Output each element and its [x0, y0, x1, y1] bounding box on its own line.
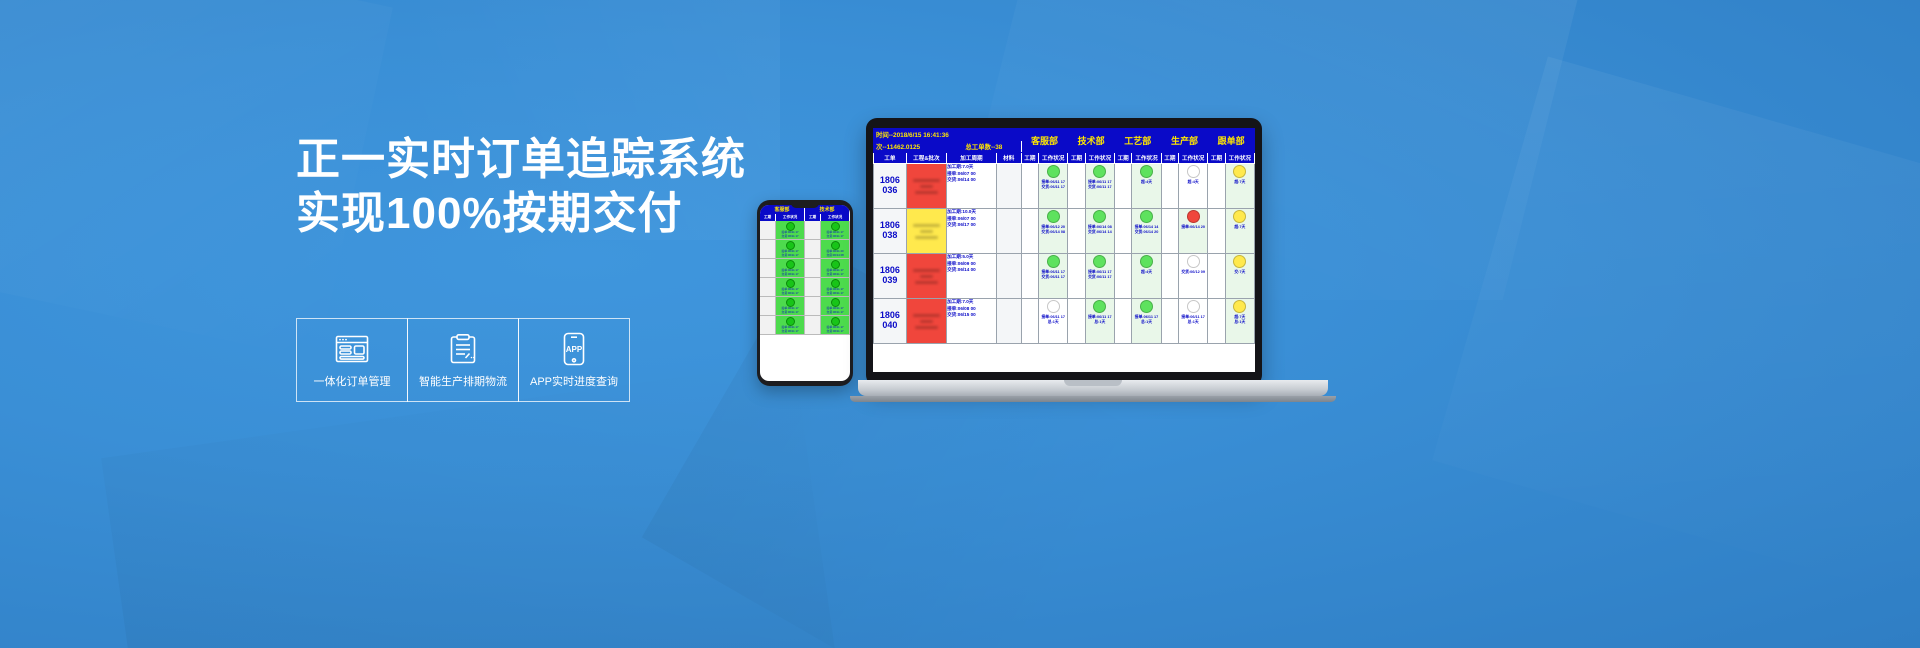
- dept-duration-cell-5[interactable]: [1208, 254, 1225, 299]
- project-batch-cell[interactable]: [906, 254, 946, 299]
- status-indicator-icon: [1093, 210, 1106, 223]
- status-indicator-icon: [1047, 255, 1060, 268]
- dept-header-1: 客服部: [1021, 129, 1068, 153]
- status-indicator-icon: [1047, 300, 1060, 313]
- dept-status-text: 交:7天: [1226, 270, 1254, 275]
- phone-screen: 客服部 技术部 工期 工作状况 工期 工作状况 接单:06/11 17交货:06…: [760, 205, 850, 381]
- system-time-label: 时间--2018/6/15 16:41:36: [874, 129, 997, 141]
- phone-subheader: 工期 工作状况 工期 工作状况: [760, 214, 850, 221]
- dept-status-text: 超:4天: [1132, 180, 1160, 185]
- phone-status-cell[interactable]: 接单:06/11 17交货:06/11 17: [821, 316, 850, 334]
- feature-production-scheduling[interactable]: 智能生产排期物流: [407, 318, 519, 402]
- column-header[interactable]: 工程&批次: [906, 153, 946, 164]
- phone-status-text: 交货:06/11 17: [782, 254, 799, 257]
- column-header[interactable]: 工期: [1161, 153, 1178, 164]
- cycle-line: 加工期:10.0天: [947, 209, 996, 216]
- phone-status-text: 交货:06/11 17: [827, 292, 844, 295]
- dept-status-cell-3[interactable]: 超:4天: [1132, 254, 1161, 299]
- total-orders-label: 总工单数--38: [947, 141, 1022, 153]
- dept-status-cell-5[interactable]: 超:7天总:1天: [1225, 299, 1254, 344]
- dept-status-text: 交货:06/11 17: [1086, 275, 1114, 280]
- total-orders-label: [996, 129, 1021, 141]
- dept-status-cell-1[interactable]: 接单:06/12 20交货:06/14 08: [1039, 209, 1068, 254]
- laptop-base: [858, 380, 1328, 396]
- dept-status-text: 超:4天: [1179, 180, 1207, 185]
- dept-status-cell-2[interactable]: 接单:06/11 17交货:06/11 17: [1085, 164, 1114, 209]
- status-indicator-icon: [1140, 210, 1153, 223]
- phone-status-text: 交货:06/11 17: [827, 235, 844, 238]
- phone-col: 工作状况: [821, 214, 850, 221]
- project-batch-cell[interactable]: [906, 299, 946, 344]
- phone-table-row[interactable]: 接单:06/11 17交货:06/11 17接单:06/11 20交货:06/1…: [760, 240, 850, 259]
- dept-status-cell-5[interactable]: 超:7天: [1225, 209, 1254, 254]
- dept-status-cell-5[interactable]: 交:7天: [1225, 254, 1254, 299]
- dept-duration-cell-2[interactable]: [1068, 164, 1085, 209]
- phone-table-row[interactable]: 接单:06/11 17交货:06/11 17接单:06/11 17交货:06/1…: [760, 221, 850, 240]
- dept-status-cell-2[interactable]: 接单:06/11 17总:1天: [1085, 299, 1114, 344]
- phone-duration-cell: [805, 278, 821, 296]
- status-indicator-icon: [1233, 165, 1246, 178]
- dept-status-text: 交货:06/11 17: [1039, 185, 1067, 190]
- phone-row-list: 接单:06/11 17交货:06/11 17接单:06/11 17交货:06/1…: [760, 221, 850, 335]
- phone-status-cell[interactable]: 接单:06/11 17交货:06/11 17: [821, 259, 850, 277]
- status-indicator-icon: [1233, 210, 1246, 223]
- phone-duration-cell: [760, 259, 776, 277]
- status-indicator-icon: [1047, 165, 1060, 178]
- phone-duration-cell: [805, 240, 821, 258]
- project-batch-cell[interactable]: [906, 164, 946, 209]
- dept-status-cell-3[interactable]: 接单:06/11 17总:1天: [1132, 299, 1161, 344]
- cycle-line: 加工期:7.0天: [947, 299, 996, 306]
- dept-status-cell-1[interactable]: 接单:06/11 17总:1天: [1039, 299, 1068, 344]
- laptop-mockup: 时间--2018/6/15 16:41:36客服部技术部工艺部生产部跟单部次--…: [858, 118, 1328, 418]
- status-indicator-icon: [1140, 165, 1153, 178]
- cycle-line: 加工期:7.0天: [947, 164, 996, 171]
- phone-duration-cell: [805, 259, 821, 277]
- dept-status-text: 交货:06/11 17: [1039, 275, 1067, 280]
- dept-status-text: 总:1天: [1132, 320, 1160, 325]
- column-header[interactable]: 加工周期: [947, 153, 997, 164]
- phone-duration-cell: [805, 221, 821, 239]
- status-indicator-icon: [1233, 300, 1246, 313]
- feature-order-management[interactable]: 一体化订单管理: [296, 318, 408, 402]
- redacted-text: [907, 164, 946, 208]
- headline-line-1: 正一实时订单追踪系统: [296, 133, 716, 187]
- dept-status-cell-4[interactable]: 接单:06/11 17总:1天: [1179, 299, 1208, 344]
- feature-label: 智能生产排期物流: [419, 373, 507, 389]
- laptop-base-notch: [1064, 380, 1122, 386]
- work-order-suffix: 039: [874, 276, 906, 286]
- status-indicator-icon: [1187, 300, 1200, 313]
- column-header[interactable]: 工单: [874, 153, 907, 164]
- dept-status-cell-1[interactable]: 接单:06/11 17交货:06/11 17: [1039, 254, 1068, 299]
- phone-status-cell[interactable]: 接单:06/11 17交货:06/11 17: [821, 221, 850, 239]
- work-order-suffix: 038: [874, 231, 906, 241]
- phone-status-text: 交货:06/11 17: [782, 330, 799, 333]
- laptop-screen: 时间--2018/6/15 16:41:36客服部技术部工艺部生产部跟单部次--…: [873, 128, 1255, 372]
- work-order-cell[interactable]: 1806038: [874, 209, 907, 254]
- status-indicator-icon: [1093, 165, 1106, 178]
- phone-col: 工作状况: [776, 214, 805, 221]
- column-header[interactable]: 工期: [1208, 153, 1225, 164]
- dept-status-text: 超:7天: [1226, 225, 1254, 230]
- dept-status-text: 总:1天: [1179, 320, 1207, 325]
- headline-line-2: 实现100%按期交付: [296, 187, 716, 241]
- material-cell[interactable]: [996, 164, 1021, 209]
- phone-status-text: 交货:06/11 17: [782, 311, 799, 314]
- dept-duration-cell-5[interactable]: [1208, 299, 1225, 344]
- phone-duration-cell: [805, 316, 821, 334]
- batch-label: 次--11462.0125: [874, 141, 947, 153]
- dept-status-cell-4[interactable]: 超:4天: [1179, 164, 1208, 209]
- work-order-suffix: 040: [874, 321, 906, 331]
- dept-status-text: 交货:06/11 17: [1086, 185, 1114, 190]
- dept-status-cell-4[interactable]: 交货:06/12 09: [1179, 254, 1208, 299]
- phone-status-text: 交货:06/11 17: [827, 273, 844, 276]
- phone-duration-cell: [760, 297, 776, 315]
- dept-duration-cell-1[interactable]: [1021, 254, 1038, 299]
- dept-duration-cell-1[interactable]: [1021, 164, 1038, 209]
- dept-status-text: 交货:06/12 09: [1179, 270, 1207, 275]
- phone-duration-cell: [760, 240, 776, 258]
- dept-duration-cell-2[interactable]: [1068, 209, 1085, 254]
- status-indicator-icon: [1187, 165, 1200, 178]
- phone-status-text: 交货:06/14 08: [826, 254, 843, 257]
- dept-status-cell-2[interactable]: 接单:06/14 08交货:06/14 14: [1085, 209, 1114, 254]
- phone-duration-cell: [760, 221, 776, 239]
- phone-status-text: 交货:06/11 17: [827, 311, 844, 314]
- phone-table-row[interactable]: 接单:06/11 17交货:06/11 17接单:06/11 17交货:06/1…: [760, 259, 850, 278]
- column-header[interactable]: 工期: [1114, 153, 1131, 164]
- column-header[interactable]: 工期: [1068, 153, 1085, 164]
- table-row[interactable]: 1806039加工期:5.0天接单:06/09 00交货:06/14 00接单:…: [874, 254, 1255, 299]
- dept-duration-cell-4[interactable]: [1161, 254, 1178, 299]
- cycle-line: 加工期:5.0天: [947, 254, 996, 261]
- phone-mockup: 客服部 技术部 工期 工作状况 工期 工作状况 接单:06/11 17交货:06…: [757, 200, 853, 386]
- dept-duration-cell-1[interactable]: [1021, 209, 1038, 254]
- phone-status-cell[interactable]: 接单:06/11 17交货:06/11 17: [776, 297, 805, 315]
- phone-notch: [791, 203, 819, 208]
- phone-col: 工期: [805, 214, 821, 221]
- clipboard-checklist-icon: [448, 331, 478, 367]
- work-order-cell[interactable]: 1806039: [874, 254, 907, 299]
- status-indicator-icon: [1140, 255, 1153, 268]
- promo-banner: 正一实时订单追踪系统 实现100%按期交付 一体化订单管理: [0, 0, 1920, 648]
- dept-duration-cell-2[interactable]: [1068, 299, 1085, 344]
- phone-status-cell[interactable]: 接单:06/11 17交货:06/11 17: [821, 278, 850, 296]
- redacted-text: [907, 209, 946, 253]
- dept-status-text: 交货:06/14 20: [1132, 230, 1160, 235]
- phone-status-cell[interactable]: 接单:06/11 17交货:06/11 17: [776, 316, 805, 334]
- processing-cycle-cell[interactable]: 加工期:7.0天接单:06/07 00交货:06/14 00: [947, 164, 997, 209]
- phone-table-row[interactable]: 接单:06/11 17交货:06/11 17接单:06/11 17交货:06/1…: [760, 297, 850, 316]
- processing-cycle-cell[interactable]: 加工期:10.0天接单:06/07 00交货:06/17 00: [947, 209, 997, 254]
- status-indicator-icon: [1140, 300, 1153, 313]
- dept-status-text: 交货:06/14 14: [1086, 230, 1114, 235]
- column-header[interactable]: 工作状况: [1039, 153, 1068, 164]
- dept-duration-cell-2[interactable]: [1068, 254, 1085, 299]
- table-row[interactable]: 1806038加工期:10.0天接单:06/07 00交货:06/17 00接单…: [874, 209, 1255, 254]
- order-tracking-table: 时间--2018/6/15 16:41:36客服部技术部工艺部生产部跟单部次--…: [873, 128, 1255, 344]
- column-header[interactable]: 工期: [1021, 153, 1038, 164]
- phone-status-cell[interactable]: 接单:06/11 17交货:06/11 17: [776, 240, 805, 258]
- dept-status-cell-1[interactable]: 接单:06/11 17交货:06/11 17: [1039, 164, 1068, 209]
- material-cell[interactable]: [996, 209, 1021, 254]
- dept-duration-cell-5[interactable]: [1208, 209, 1225, 254]
- status-indicator-icon: [1187, 255, 1200, 268]
- phone-table-row[interactable]: 接单:06/11 17交货:06/11 17接单:06/11 17交货:06/1…: [760, 278, 850, 297]
- processing-cycle-cell[interactable]: 加工期:5.0天接单:06/09 00交货:06/14 00: [947, 254, 997, 299]
- dept-status-text: 超:7天: [1226, 180, 1254, 185]
- project-batch-cell[interactable]: [906, 209, 946, 254]
- phone-status-cell[interactable]: 接单:06/11 17交货:06/11 17: [821, 297, 850, 315]
- dept-duration-cell-3[interactable]: [1114, 164, 1131, 209]
- status-indicator-icon: [1093, 255, 1106, 268]
- phone-status-text: 交货:06/11 17: [782, 292, 799, 295]
- phone-status-cell[interactable]: 接单:06/11 17交货:06/11 17: [776, 221, 805, 239]
- work-order-cell[interactable]: 1806040: [874, 299, 907, 344]
- redacted-text: [907, 254, 946, 298]
- status-indicator-icon: [1233, 255, 1246, 268]
- laptop-lid: 时间--2018/6/15 16:41:36客服部技术部工艺部生产部跟单部次--…: [866, 118, 1262, 386]
- feature-list: 一体化订单管理 智能生产排期物流: [296, 318, 629, 402]
- phone-duration-cell: [760, 316, 776, 334]
- column-header[interactable]: 工作状况: [1085, 153, 1114, 164]
- phone-status-cell[interactable]: 接单:06/11 17交货:06/11 17: [776, 259, 805, 277]
- dept-status-text: 超:4天: [1132, 270, 1160, 275]
- cycle-line: 交货:06/14 00: [947, 177, 996, 184]
- bg-facet: [101, 361, 839, 648]
- table-row[interactable]: 1806040加工期:7.0天接单:06/08 00交货:06/15 00接单:…: [874, 299, 1255, 344]
- phone-duration-cell: [760, 278, 776, 296]
- dept-duration-cell-1[interactable]: [1021, 299, 1038, 344]
- dept-status-text: 交货:06/14 08: [1039, 230, 1067, 235]
- dept-duration-cell-5[interactable]: [1208, 164, 1225, 209]
- phone-col: 工期: [760, 214, 776, 221]
- dept-status-cell-2[interactable]: 接单:06/11 17交货:06/11 17: [1085, 254, 1114, 299]
- work-order-cell[interactable]: 1806036: [874, 164, 907, 209]
- dept-status-cell-4[interactable]: 接单:06/14 20: [1179, 209, 1208, 254]
- status-bar-row: 时间--2018/6/15 16:41:36客服部技术部工艺部生产部跟单部: [874, 129, 1255, 141]
- dept-duration-cell-3[interactable]: [1114, 209, 1131, 254]
- table-row[interactable]: 1806036加工期:7.0天接单:06/07 00交货:06/14 00接单:…: [874, 164, 1255, 209]
- work-order-suffix: 036: [874, 186, 906, 196]
- cycle-line: 交货:06/14 00: [947, 267, 996, 274]
- column-header[interactable]: 工作状况: [1132, 153, 1161, 164]
- column-header[interactable]: 材料: [996, 153, 1021, 164]
- dept-duration-cell-3[interactable]: [1114, 299, 1131, 344]
- dept-duration-cell-4[interactable]: [1161, 164, 1178, 209]
- feature-app-progress-query[interactable]: APP APP实时进度查询: [518, 318, 630, 402]
- phone-status-cell[interactable]: 接单:06/11 17交货:06/11 17: [776, 278, 805, 296]
- dept-status-cell-3[interactable]: 接单:06/14 14交货:06/14 20: [1132, 209, 1161, 254]
- phone-status-text: 交货:06/11 17: [827, 330, 844, 333]
- bg-facet: [1432, 56, 1920, 603]
- dashboard-window-icon: [335, 331, 369, 367]
- phone-duration-cell: [805, 297, 821, 315]
- feature-label: 一体化订单管理: [314, 373, 391, 389]
- dept-status-text: 总:1天: [1086, 320, 1114, 325]
- dept-status-text: 总:1天: [1226, 320, 1254, 325]
- column-header[interactable]: 工作状况: [1179, 153, 1208, 164]
- dept-status-cell-3[interactable]: 超:4天: [1132, 164, 1161, 209]
- laptop-foot: [850, 396, 1336, 402]
- cycle-line: 交货:06/15 00: [947, 312, 996, 319]
- dept-status-text: 接单:06/14 20: [1179, 225, 1207, 230]
- dept-header-2: 技术部: [1068, 129, 1115, 153]
- dept-duration-cell-4[interactable]: [1161, 209, 1178, 254]
- dept-duration-cell-3[interactable]: [1114, 254, 1131, 299]
- hero-copy: 正一实时订单追踪系统 实现100%按期交付: [296, 133, 716, 241]
- feature-label: APP实时进度查询: [530, 373, 618, 389]
- phone-status-text: 交货:06/11 17: [782, 273, 799, 276]
- dept-status-cell-5[interactable]: 超:7天: [1225, 164, 1254, 209]
- dept-status-text: 总:1天: [1039, 320, 1067, 325]
- phone-status-cell[interactable]: 接单:06/11 20交货:06/14 08: [821, 240, 850, 258]
- material-cell[interactable]: [996, 254, 1021, 299]
- redacted-text: [907, 299, 946, 343]
- column-header-row: 工单工程&批次加工周期材料工期工作状况工期工作状况工期工作状况工期工作状况工期工…: [874, 153, 1255, 164]
- dept-duration-cell-4[interactable]: [1161, 299, 1178, 344]
- dept-header-3: 工艺部: [1114, 129, 1161, 153]
- dept-header-5: 跟单部: [1208, 129, 1255, 153]
- mobile-app-icon: APP: [562, 331, 586, 367]
- phone-table-row[interactable]: 接单:06/11 17交货:06/11 17接单:06/11 17交货:06/1…: [760, 316, 850, 335]
- column-header[interactable]: 工作状况: [1225, 153, 1254, 164]
- status-indicator-icon: [1187, 210, 1200, 223]
- dept-header-4: 生产部: [1161, 129, 1208, 153]
- material-cell[interactable]: [996, 299, 1021, 344]
- processing-cycle-cell[interactable]: 加工期:7.0天接单:06/08 00交货:06/15 00: [947, 299, 997, 344]
- cycle-line: 交货:06/17 00: [947, 222, 996, 229]
- status-indicator-icon: [1047, 210, 1060, 223]
- svg-text:APP: APP: [566, 345, 583, 354]
- phone-status-text: 交货:06/11 17: [782, 235, 799, 238]
- status-indicator-icon: [1093, 300, 1106, 313]
